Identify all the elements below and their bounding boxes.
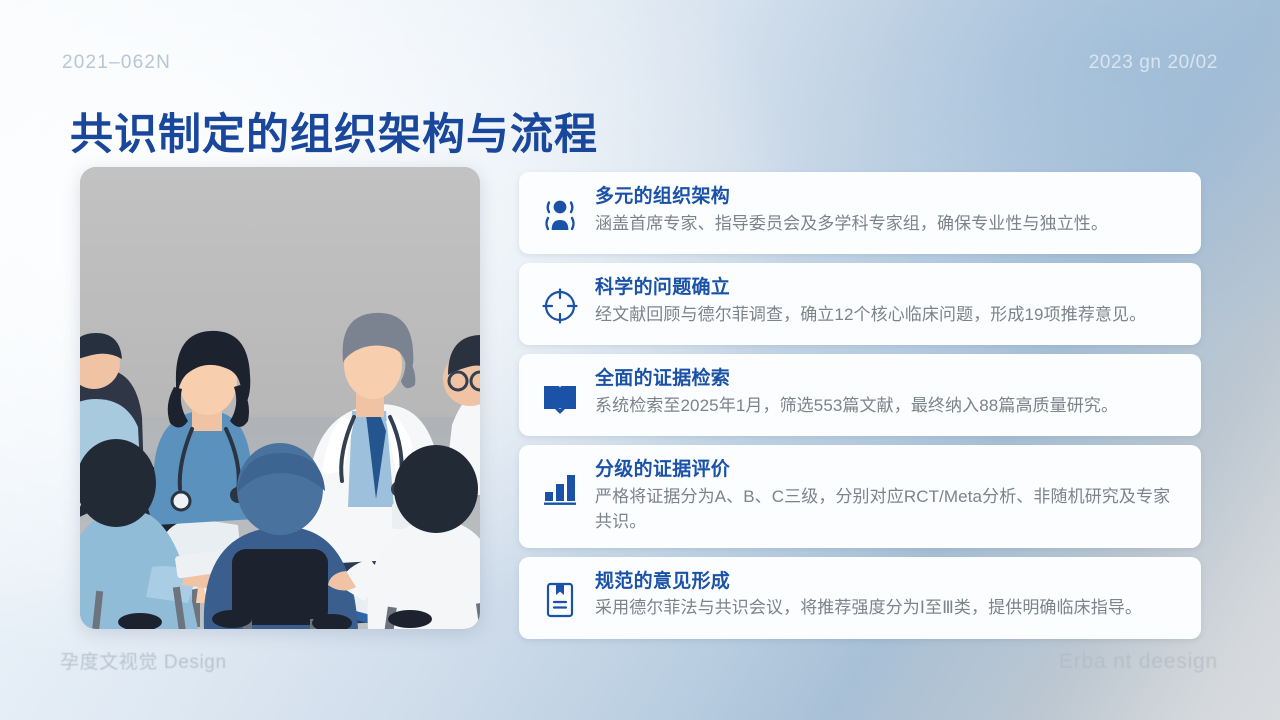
page-title: 共识制定的组织架构与流程 (70, 111, 598, 159)
feature-card-list: 多元的组织架构 涵盖首席专家、指导委员会及多学科专家组，确保专业性与独立性。 科… (519, 172, 1201, 648)
feature-card-desc: 严格将证据分为A、B、C三级，分别对应RCT/Meta分析、非随机研究及专家共识… (595, 485, 1183, 535)
feature-card[interactable]: 规范的意见形成 采用德尔菲法与共识会议，将推荐强度分为Ⅰ至Ⅲ类，提供明确临床指导… (519, 557, 1201, 639)
feature-card-body: 全面的证据检索 系统检索至2025年1月，筛选553篇文献，最终纳入88篇高质量… (595, 367, 1183, 419)
feature-card[interactable]: 多元的组织架构 涵盖首席专家、指导委员会及多学科专家组，确保专业性与独立性。 (519, 172, 1201, 254)
feature-card[interactable]: 科学的问题确立 经文献回顾与德尔菲调查，确立12个核心临床问题，形成19项推荐意… (519, 263, 1201, 345)
users-group-icon (539, 189, 581, 241)
target-crosshair-icon (539, 280, 581, 332)
feature-card-title: 分级的证据评价 (595, 458, 1183, 482)
feature-card-body: 科学的问题确立 经文献回顾与德尔菲调查，确立12个核心临床问题，形成19项推荐意… (595, 276, 1183, 328)
illustration-medical-discussion (80, 167, 480, 629)
feature-card-body: 规范的意见形成 采用德尔菲法与共识会议，将推荐强度分为Ⅰ至Ⅲ类，提供明确临床指导… (595, 570, 1183, 622)
feature-card-title: 规范的意见形成 (595, 570, 1183, 594)
medical-discussion-illustration (80, 167, 480, 629)
watermark-left: 孕度文视觉 Design (60, 647, 227, 674)
slide-root: 2021–062N 2023 gn 20/02 共识制定的组织架构与流程 (0, 0, 1280, 720)
feature-card[interactable]: 全面的证据检索 系统检索至2025年1月，筛选553篇文献，最终纳入88篇高质量… (519, 354, 1201, 436)
bar-chart-icon (539, 462, 581, 514)
feature-card[interactable]: 分级的证据评价 严格将证据分为A、B、C三级，分别对应RCT/Meta分析、非随… (519, 445, 1201, 548)
feature-card-desc: 涵盖首席专家、指导委员会及多学科专家组，确保专业性与独立性。 (595, 212, 1183, 237)
slide-corner-code: 2023 gn 20/02 (1089, 52, 1218, 74)
feature-card-title: 多元的组织架构 (595, 185, 1183, 209)
feature-card-desc: 采用德尔菲法与共识会议，将推荐强度分为Ⅰ至Ⅲ类，提供明确临床指导。 (595, 596, 1183, 621)
open-book-icon (539, 371, 581, 423)
watermark-right: Erba nt deesign (1059, 650, 1218, 674)
feature-card-desc: 经文献回顾与德尔菲调查，确立12个核心临床问题，形成19项推荐意见。 (595, 303, 1183, 328)
feature-card-title: 全面的证据检索 (595, 367, 1183, 391)
feature-card-body: 多元的组织架构 涵盖首席专家、指导委员会及多学科专家组，确保专业性与独立性。 (595, 185, 1183, 237)
feature-card-body: 分级的证据评价 严格将证据分为A、B、C三级，分别对应RCT/Meta分析、非随… (595, 458, 1183, 535)
feature-card-title: 科学的问题确立 (595, 276, 1183, 300)
bookmark-document-icon (539, 574, 581, 626)
slide-kicker: 2021–062N (62, 52, 171, 74)
feature-card-desc: 系统检索至2025年1月，筛选553篇文献，最终纳入88篇高质量研究。 (595, 394, 1183, 419)
